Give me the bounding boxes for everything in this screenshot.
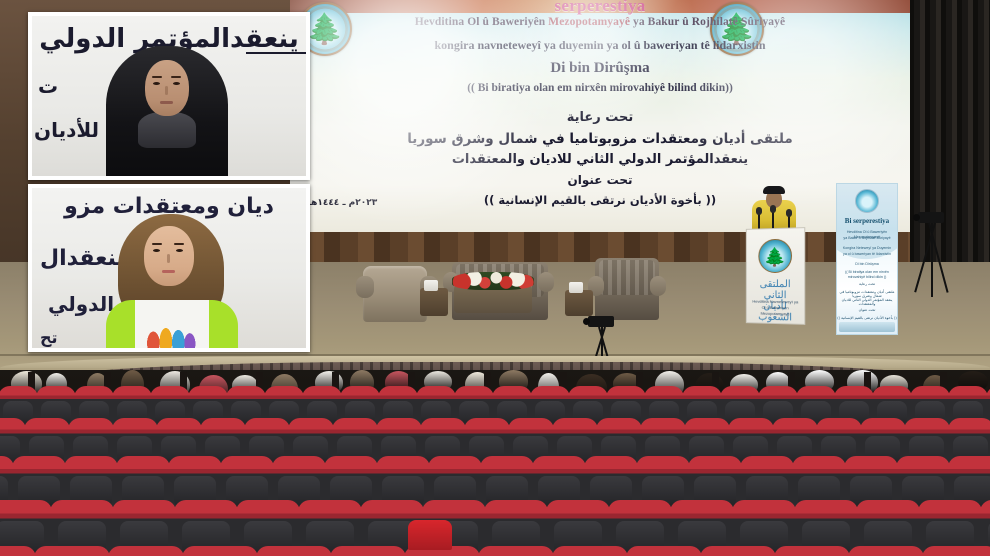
banner-kurdish-line-1b: Mezopotamyayê <box>548 16 630 28</box>
theatre-seat <box>552 546 628 556</box>
tissue-box-left <box>424 280 438 291</box>
banner-arabic-line-2: ملتقى أديان ومعتقدات مزوبوتاميا في شمال … <box>290 131 910 147</box>
inset2-person-face <box>144 226 194 286</box>
sofa-right-armrest <box>650 276 666 296</box>
inset1-backdrop-text-2: ت <box>38 74 58 98</box>
banner-arabic-line-5: (( بأخوة الأديان نرتقى بالقيم الإنسانية … <box>290 193 910 207</box>
rollup-base <box>839 322 895 332</box>
inset1-backdrop-text-3: للأديان <box>34 118 99 142</box>
theatre-seat <box>774 546 850 556</box>
mouth <box>160 101 173 104</box>
red-fez-hat <box>408 520 452 550</box>
podium-latin-caption: Hevditina Navneteweyî ya Ol û Baweriyên … <box>751 299 801 318</box>
theatre-seat <box>34 546 110 556</box>
banner-date: ٢٠٢٣م ـ ١٤٤٤هـ <box>308 198 377 208</box>
rollup-line-3: Kongira Neteweyî ya Duyemin <box>837 246 897 251</box>
rollup-heading: Bi serperestiya <box>837 217 897 225</box>
eye <box>153 249 160 252</box>
banner-arabic-line-1: تحت رعاية <box>290 110 910 125</box>
theatre-seat <box>0 546 36 556</box>
rollup-arabic-4: تحت عنوان <box>837 308 897 312</box>
eye <box>176 249 183 252</box>
inset2-shirt-graphic <box>144 324 196 348</box>
video-camera <box>588 316 614 327</box>
camera-lens-icon <box>583 318 590 325</box>
tissue-box-right <box>569 282 583 293</box>
rollup-line-4: ya ol û baweriyan tê lidarxistin <box>837 252 897 257</box>
rollup-banner: Bi serperestiya Hevditina Ol û Baweriyên… <box>836 183 898 335</box>
inset-photo-1[interactable]: ينعقدالمؤتمر الدولي ت للأديان <box>28 12 310 180</box>
rollup-line-2: ya Bakur û Rojhilatê Sûriyayê <box>837 236 897 241</box>
eye <box>153 82 160 85</box>
inset2-backdrop-text-2: ينعقدال <box>40 246 125 271</box>
theatre-seat <box>478 546 554 556</box>
sofa-center-armrest <box>538 272 554 292</box>
theatre-seat <box>626 546 702 556</box>
theatre-seat <box>848 546 924 556</box>
banner-kurdish-slogan: (( Bi biratiya olan em nirxên mirovahiyê… <box>290 82 910 94</box>
audience-section <box>0 370 990 556</box>
inset-photo-2[interactable]: ديان ومعتقدات مزو ينعقدال الدولي تح <box>28 184 310 352</box>
inset1-person-face <box>145 60 189 116</box>
banner-kurdish-line-1a: Hevditina Ol û Baweriyên <box>415 16 548 28</box>
video-camera <box>918 212 944 223</box>
microphone-head <box>770 205 776 213</box>
side-table-right <box>565 290 593 316</box>
flower-arrangement <box>452 272 534 290</box>
eyebrow <box>152 76 162 78</box>
rollup-line-5: Di bin Dirûşma <box>837 262 897 267</box>
rollup-arabic-1: تحت رعاية <box>837 282 897 286</box>
theatre-seat <box>700 546 776 556</box>
screenshot-root: serperestiya 🌲 🌲 Hevditina Ol û Baweriyê… <box>0 0 990 556</box>
speaker-cap <box>763 186 785 194</box>
rollup-arabic-2: ملتقى أديان ومعتقدات مزوبوتاميا في شمال … <box>837 290 897 298</box>
microphone-left <box>758 212 760 230</box>
rollup-line-6: (( Bi biratiya olan em nirxên mirovahiyê… <box>837 270 897 280</box>
banner-kurdish-slogan-heading: Di bin Dirûşma <box>290 60 910 77</box>
mouth <box>162 270 175 273</box>
banner-arabic-line-4: تحت عنوان <box>290 173 910 187</box>
theatre-seat <box>108 546 184 556</box>
theatre-seat <box>330 546 406 556</box>
eyebrow <box>171 76 181 78</box>
inset2-backdrop-text-3: الدولي <box>48 292 114 316</box>
eye <box>173 82 180 85</box>
banner-kurdish-line-1c: ya Bakur û Rojhilatê Sûriyayê <box>630 16 785 28</box>
theatre-seat <box>256 546 332 556</box>
eyebrow <box>174 243 184 245</box>
inset2-backdrop-text-4: تح <box>40 328 58 347</box>
microphone-head <box>786 209 792 217</box>
tree-icon: 🌲 <box>764 247 786 265</box>
banner-top-title: serperestiya <box>290 0 910 16</box>
stage-backdrop-banner: serperestiya 🌲 🌲 Hevditina Ol û Baweriyê… <box>290 0 910 232</box>
inset-photo-2-image: ديان ومعتقدات مزو ينعقدال الدولي تح <box>32 188 306 348</box>
speaker-podium: 🌲 الملتقى الثاني لأديان الشعوب Hevditina… <box>746 227 805 325</box>
inset1-inner-scarf <box>138 112 196 148</box>
microphone-head <box>756 207 762 215</box>
rollup-arabic-3: ينعقد المؤتمر الدولي الثاني للاديان والم… <box>837 298 897 306</box>
rollup-tree-logo <box>855 189 879 213</box>
podium-tree-logo: 🌲 <box>758 239 792 273</box>
theatre-seat <box>182 546 258 556</box>
camera-lens-icon <box>913 214 920 221</box>
inset-photo-1-image: ينعقدالمؤتمر الدولي ت للأديان <box>32 16 306 176</box>
theatre-seat <box>922 546 990 556</box>
banner-kurdish-line-1: Hevditina Ol û Baweriyên Mezopotamyayê y… <box>290 16 910 28</box>
nose <box>167 254 170 263</box>
banner-kurdish-line-2: kongira navneteweyî ya duyemin ya ol û b… <box>290 38 910 53</box>
microphone-center <box>772 210 774 230</box>
podium-arabic-caption: الملتقى الثاني لأديان الشعوب <box>753 279 799 297</box>
inset1-text-underline <box>246 52 306 54</box>
rollup-arabic-5: (( بأخوة الأديان نرتقى بالقيم الإنسانية … <box>837 316 897 320</box>
side-table-left <box>420 288 448 316</box>
banner-arabic-line-3: ينعقدالمؤتمر الدولي الثاني للاديان والمع… <box>290 152 910 167</box>
nose <box>165 86 168 95</box>
eyebrow <box>152 243 162 245</box>
sofa-back-ribbing <box>599 260 655 295</box>
armchair-left-armrest <box>356 276 374 298</box>
